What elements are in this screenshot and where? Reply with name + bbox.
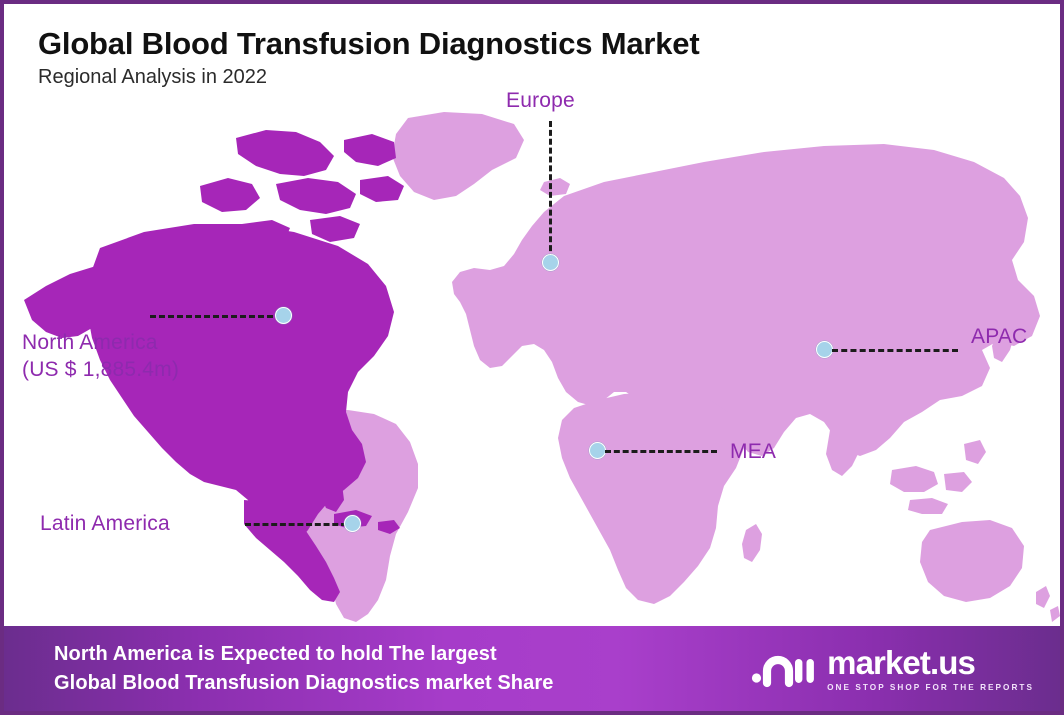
footer-banner: North America is Expected to hold The la… — [4, 626, 1060, 711]
world-map-svg — [4, 100, 1060, 630]
logo-tagline: ONE STOP SHOP FOR THE REPORTS — [827, 683, 1034, 692]
banner-line-1: North America is Expected to hold The la… — [54, 640, 553, 668]
banner-message: North America is Expected to hold The la… — [54, 640, 553, 697]
page-title: Global Blood Transfusion Diagnostics Mar… — [38, 26, 699, 62]
market-us-logo[interactable]: market.us ONE STOP SHOP FOR THE REPORTS — [751, 646, 1034, 692]
page-subtitle: Regional Analysis in 2022 — [38, 66, 699, 89]
logo-wordmark: market.us — [827, 646, 1034, 679]
infographic-root: Global Blood Transfusion Diagnostics Mar… — [0, 0, 1064, 715]
logo-text: market.us ONE STOP SHOP FOR THE REPORTS — [827, 646, 1034, 692]
world-map — [4, 100, 1060, 630]
header: Global Blood Transfusion Diagnostics Mar… — [38, 26, 699, 89]
logo-mark-icon — [751, 647, 817, 691]
banner-line-2: Global Blood Transfusion Diagnostics mar… — [54, 669, 553, 697]
